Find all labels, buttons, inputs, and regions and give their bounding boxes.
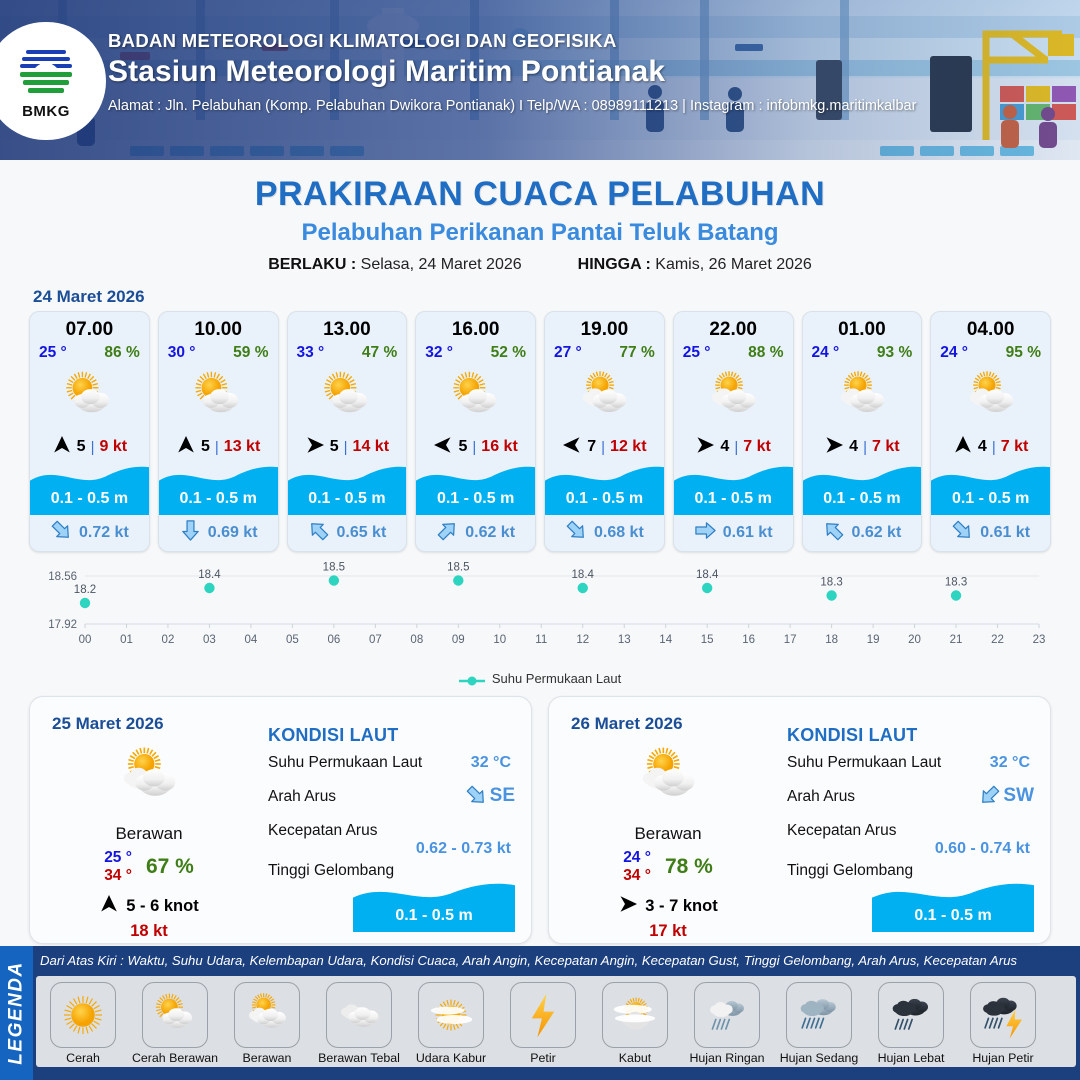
svg-text:22: 22 (991, 634, 1004, 646)
card-time: 16.00 (416, 312, 535, 341)
bmkg-logo-text: BMKG (22, 103, 70, 120)
card-humidity: 88 % (748, 344, 783, 362)
daily-date: 25 Maret 2026 (52, 714, 164, 734)
wave-height-label: Tinggi Gelombang (787, 862, 913, 879)
card-wave-height: 0.1 - 0.5 m (288, 490, 407, 508)
card-time: 13.00 (288, 312, 407, 341)
card-wind-row: 5 | 14 kt (288, 432, 407, 462)
legend-kabut-icon (602, 982, 668, 1048)
daily-sea-block: KONDISI LAUT Suhu Permukaan Laut 32 °C A… (268, 725, 517, 888)
wind-direction-arrow-icon (824, 435, 844, 460)
sst-line: Suhu Permukaan Laut 32 °C (787, 754, 1036, 780)
validity-row: BERLAKU : Selasa, 24 Maret 2026 HINGGA :… (0, 256, 1080, 274)
card-temperature: 32 ° (425, 344, 453, 362)
svg-text:18.4: 18.4 (572, 569, 595, 581)
card-weather-cerah-berawan-icon (159, 364, 278, 430)
card-wind-speed: 5 (77, 438, 86, 456)
daily-condition: Berawan (559, 824, 777, 844)
card-wind-row: 4 | 7 kt (674, 432, 793, 462)
svg-text:01: 01 (120, 634, 133, 646)
card-temp-hum: 24 ° 95 % (931, 341, 1050, 362)
card-wave-height: 0.1 - 0.5 m (931, 490, 1050, 508)
legend-item: Cerah Berawan (132, 982, 218, 1065)
card-weather-berawan-icon (545, 364, 664, 430)
svg-text:20: 20 (908, 634, 921, 646)
card-gust: 13 kt (224, 438, 260, 456)
legend-item: Cerah (40, 982, 126, 1065)
card-temp-hum: 24 ° 93 % (803, 341, 922, 362)
card-wind-separator: | (601, 439, 605, 456)
current-direction-value: SW (1003, 785, 1034, 807)
wind-direction-arrow-icon (305, 435, 325, 460)
card-wind-separator: | (344, 439, 348, 456)
daily-gust: 17 kt (559, 922, 777, 941)
hourly-card: 19.00 27 ° 77 % 7 | 12 kt 0.1 - 0.5 m 0.… (544, 311, 665, 552)
wave-height-line: Tinggi Gelombang 0.1 - 0.5 m (268, 862, 517, 888)
card-time: 22.00 (674, 312, 793, 341)
card-wind-speed: 7 (587, 438, 596, 456)
card-wind-separator: | (215, 439, 219, 456)
daily-left-block: Berawan 25 ° 34 ° 67 % 5 - 6 knot 18 kt (40, 739, 258, 941)
card-humidity: 86 % (104, 344, 139, 362)
legend-item: Hujan Lebat (868, 982, 954, 1065)
card-gust: 12 kt (610, 438, 646, 456)
card-current-speed: 0.62 kt (851, 524, 901, 542)
daily-temp-min: 25 ° (104, 849, 132, 867)
card-temperature: 25 ° (39, 344, 67, 362)
wave-height-box: 0.1 - 0.5 m (353, 880, 515, 932)
card-weather-cerah-berawan-icon (416, 364, 535, 430)
card-current-row: 0.62 kt (803, 515, 922, 551)
card-wind-row: 7 | 12 kt (545, 432, 664, 462)
current-direction-label: Arah Arus (268, 788, 336, 805)
card-temp-hum: 25 ° 86 % (30, 341, 149, 362)
daily-wind-row: 5 - 6 knot (40, 894, 258, 919)
legend-berawan-icon (234, 982, 300, 1048)
card-wave-height: 0.1 - 0.5 m (159, 490, 278, 508)
wind-direction-arrow-icon (562, 435, 582, 460)
card-humidity: 52 % (491, 344, 526, 362)
svg-text:21: 21 (950, 634, 963, 646)
card-wave-height: 0.1 - 0.5 m (30, 490, 149, 508)
svg-text:18.56: 18.56 (48, 571, 77, 583)
legend-side-text: LEGENDA (6, 961, 28, 1064)
legend-item-label: Cerah (66, 1051, 100, 1065)
svg-text:04: 04 (245, 634, 258, 646)
legend-items: CerahCerah BerawanBerawanBerawan TebalUd… (36, 976, 1076, 1067)
card-wind-speed: 5 (458, 438, 467, 456)
hourly-card: 22.00 25 ° 88 % 4 | 7 kt 0.1 - 0.5 m 0.6… (673, 311, 794, 552)
daily-humidity: 78 % (665, 855, 713, 879)
card-humidity: 95 % (1006, 344, 1041, 362)
card-temp-hum: 32 ° 52 % (416, 341, 535, 362)
svg-text:18.4: 18.4 (198, 569, 221, 581)
card-wind-separator: | (734, 439, 738, 456)
svg-text:05: 05 (286, 634, 299, 646)
svg-text:08: 08 (410, 634, 423, 646)
daily-temp-max: 34 ° (623, 867, 651, 885)
svg-text:17.92: 17.92 (48, 619, 77, 631)
daily-condition: Berawan (40, 824, 258, 844)
card-wind-speed: 5 (330, 438, 339, 456)
daily-left-block: Berawan 24 ° 34 ° 78 % 3 - 7 knot 17 kt (559, 739, 777, 941)
card-temperature: 33 ° (297, 344, 325, 362)
legend-cerah-berawan-icon (142, 982, 208, 1048)
card-temp-hum: 33 ° 47 % (288, 341, 407, 362)
legend-item-label: Petir (530, 1051, 555, 1065)
hourly-card: 13.00 33 ° 47 % 5 | 14 kt 0.1 - 0.5 m 0.… (287, 311, 408, 552)
current-direction-arrow-icon (694, 519, 717, 547)
chart-legend-label: Suhu Permukaan Laut (492, 671, 621, 686)
card-wave-block: 0.1 - 0.5 m (803, 463, 922, 515)
legend-item-label: Hujan Sedang (780, 1051, 859, 1065)
valid-from: BERLAKU : Selasa, 24 Maret 2026 (268, 256, 521, 274)
daily-panel: 26 Maret 2026 Berawan 24 ° 34 ° 78 % 3 -… (548, 696, 1051, 944)
current-direction-line: Arah Arus SW (787, 788, 1036, 814)
valid-from-label: BERLAKU : (268, 256, 356, 273)
legend-note: Dari Atas Kiri : Waktu, Suhu Udara, Kele… (40, 953, 1017, 968)
daily-humidity: 67 % (146, 855, 194, 879)
daily-gust: 18 kt (40, 922, 258, 941)
svg-text:14: 14 (659, 634, 672, 646)
daily-weather-berawan-icon (40, 739, 258, 822)
card-wind-row: 4 | 7 kt (803, 432, 922, 462)
card-current-speed: 0.72 kt (79, 524, 129, 542)
sst-label: Suhu Permukaan Laut (268, 754, 422, 771)
current-direction-arrow-icon (951, 519, 974, 547)
current-speed-label: Kecepatan Arus (787, 822, 896, 839)
page-subtitle: Pelabuhan Perikanan Pantai Teluk Batang (0, 219, 1080, 247)
sea-conditions-title: KONDISI LAUT (787, 725, 1036, 746)
daily-weather-berawan-icon (559, 739, 777, 822)
legend-item-label: Berawan Tebal (318, 1051, 400, 1065)
hourly-forecast-row: 07.00 25 ° 86 % 5 | 9 kt 0.1 - 0.5 m 0.7… (0, 311, 1080, 552)
card-wind-separator: | (91, 439, 95, 456)
card-humidity: 59 % (233, 344, 268, 362)
card-wind-row: 5 | 16 kt (416, 432, 535, 462)
bmkg-logo-icon (16, 42, 76, 102)
legend-item: Berawan (224, 982, 310, 1065)
card-current-row: 0.61 kt (931, 515, 1050, 551)
legend-berawan-tebal-icon (326, 982, 392, 1048)
card-wind-speed: 4 (978, 438, 987, 456)
card-time: 01.00 (803, 312, 922, 341)
wave-height-line: Tinggi Gelombang 0.1 - 0.5 m (787, 862, 1036, 888)
card-temperature: 24 ° (812, 344, 840, 362)
header-station-name: Stasiun Meteorologi Maritim Pontianak (108, 55, 916, 89)
legend-item: Hujan Petir (960, 982, 1046, 1065)
legend-item-label: Cerah Berawan (132, 1051, 218, 1065)
card-time: 10.00 (159, 312, 278, 341)
current-direction-value: SE (490, 785, 515, 807)
svg-text:16: 16 (742, 634, 755, 646)
card-current-speed: 0.69 kt (208, 524, 258, 542)
svg-text:18.5: 18.5 (323, 562, 345, 574)
legend-petir-icon (510, 982, 576, 1048)
legend-hujan-petir-icon (970, 982, 1036, 1048)
sst-value: 32 °C (990, 754, 1030, 772)
header-address: Alamat : Jln. Pelabuhan (Komp. Pelabuhan… (108, 98, 916, 114)
current-direction-arrow-icon (565, 519, 588, 547)
daily-wind-speed: 3 - 7 knot (645, 897, 717, 916)
valid-until-label: HINGGA : (578, 256, 651, 273)
card-temp-hum: 27 ° 77 % (545, 341, 664, 362)
current-direction-arrow-icon (822, 519, 845, 547)
card-temp-hum: 25 ° 88 % (674, 341, 793, 362)
daily-temp-min: 24 ° (623, 849, 651, 867)
sst-chart: 18.5617.92000102030405060708091011121314… (29, 562, 1051, 667)
card-weather-berawan-icon (803, 364, 922, 430)
page-title: PRAKIRAAN CUACA PELABUHAN (0, 175, 1080, 214)
card-current-row: 0.69 kt (159, 515, 278, 551)
svg-text:18: 18 (825, 634, 838, 646)
wind-direction-arrow-icon (618, 894, 638, 919)
card-wave-height: 0.1 - 0.5 m (416, 490, 535, 508)
daily-temp-hum: 24 ° 34 ° 78 % (559, 849, 777, 885)
current-speed-value: 0.60 - 0.74 kt (935, 840, 1030, 858)
current-direction-value-wrap: SE (465, 784, 515, 807)
svg-text:12: 12 (576, 634, 589, 646)
svg-text:18.5: 18.5 (447, 562, 469, 574)
legend-item-label: Berawan (243, 1051, 292, 1065)
card-temperature: 25 ° (683, 344, 711, 362)
current-direction-arrow-icon (179, 519, 202, 547)
card-humidity: 47 % (362, 344, 397, 362)
svg-text:15: 15 (701, 634, 714, 646)
valid-until-value: Kamis, 26 Maret 2026 (655, 256, 812, 273)
sst-line: Suhu Permukaan Laut 32 °C (268, 754, 517, 780)
card-wave-block: 0.1 - 0.5 m (931, 463, 1050, 515)
card-wave-block: 0.1 - 0.5 m (30, 463, 149, 515)
wind-direction-arrow-icon (176, 435, 196, 460)
card-wave-height: 0.1 - 0.5 m (803, 490, 922, 508)
svg-text:23: 23 (1033, 634, 1046, 646)
daily-sea-block: KONDISI LAUT Suhu Permukaan Laut 32 °C A… (787, 725, 1036, 888)
card-wave-block: 0.1 - 0.5 m (159, 463, 278, 515)
current-direction-label: Arah Arus (787, 788, 855, 805)
legend-hujan-ringan-icon (694, 982, 760, 1048)
chart-legend-marker (459, 674, 485, 684)
legend-side-label: LEGENDA (0, 946, 33, 1080)
card-wind-separator: | (472, 439, 476, 456)
sst-label: Suhu Permukaan Laut (787, 754, 941, 771)
wave-height-value: 0.1 - 0.5 m (872, 907, 1034, 925)
card-wave-block: 0.1 - 0.5 m (416, 463, 535, 515)
card-gust: 7 kt (872, 438, 900, 456)
card-current-row: 0.72 kt (30, 515, 149, 551)
svg-text:19: 19 (867, 634, 880, 646)
hourly-card: 01.00 24 ° 93 % 4 | 7 kt 0.1 - 0.5 m 0.6… (802, 311, 923, 552)
header-text-block: BADAN METEOROLOGI KLIMATOLOGI DAN GEOFIS… (108, 30, 916, 114)
legend-item: Hujan Sedang (776, 982, 862, 1065)
svg-text:00: 00 (79, 634, 92, 646)
page-header: BMKG BADAN METEOROLOGI KLIMATOLOGI DAN G… (0, 0, 1080, 160)
card-wave-height: 0.1 - 0.5 m (545, 490, 664, 508)
card-wave-block: 0.1 - 0.5 m (288, 463, 407, 515)
svg-text:06: 06 (327, 634, 340, 646)
current-direction-arrow-icon (307, 519, 330, 547)
header-org-name: BADAN METEOROLOGI KLIMATOLOGI DAN GEOFIS… (108, 30, 916, 52)
svg-text:11: 11 (535, 634, 547, 646)
legend-item-label: Udara Kabur (416, 1051, 486, 1065)
legend-item-label: Hujan Petir (972, 1051, 1033, 1065)
card-wind-speed: 5 (201, 438, 210, 456)
svg-text:17: 17 (784, 634, 797, 646)
legend-item-label: Kabut (619, 1051, 651, 1065)
sea-conditions-title: KONDISI LAUT (268, 725, 517, 746)
card-temp-hum: 30 ° 59 % (159, 341, 278, 362)
svg-text:02: 02 (162, 634, 175, 646)
legend-item: Berawan Tebal (316, 982, 402, 1065)
svg-text:18.3: 18.3 (945, 577, 967, 589)
card-temperature: 27 ° (554, 344, 582, 362)
card-temperature: 24 ° (940, 344, 968, 362)
card-current-speed: 0.68 kt (594, 524, 644, 542)
daily-forecast-panels: 25 Maret 2026 Berawan 25 ° 34 ° 67 % 5 -… (0, 686, 1080, 944)
legend-udara-kabur-icon (418, 982, 484, 1048)
wind-direction-arrow-icon (52, 435, 72, 460)
hourly-card: 16.00 32 ° 52 % 5 | 16 kt 0.1 - 0.5 m 0.… (415, 311, 536, 552)
card-wave-height: 0.1 - 0.5 m (674, 490, 793, 508)
svg-text:18.3: 18.3 (820, 577, 842, 589)
svg-text:18.2: 18.2 (74, 584, 96, 596)
svg-text:07: 07 (369, 634, 382, 646)
daily-temps: 24 ° 34 ° (623, 849, 651, 885)
wind-direction-arrow-icon (433, 435, 453, 460)
valid-from-value: Selasa, 24 Maret 2026 (361, 256, 522, 273)
card-humidity: 77 % (619, 344, 654, 362)
legend-item: Kabut (592, 982, 678, 1065)
hourly-card: 10.00 30 ° 59 % 5 | 13 kt 0.1 - 0.5 m 0.… (158, 311, 279, 552)
daily-temps: 25 ° 34 ° (104, 849, 132, 885)
legend-item-label: Hujan Lebat (878, 1051, 945, 1065)
daily-panel: 25 Maret 2026 Berawan 25 ° 34 ° 67 % 5 -… (29, 696, 532, 944)
hourly-date-label: 24 Maret 2026 (33, 287, 1080, 307)
card-current-row: 0.61 kt (674, 515, 793, 551)
card-wind-separator: | (992, 439, 996, 456)
card-wind-speed: 4 (849, 438, 858, 456)
card-wave-block: 0.1 - 0.5 m (545, 463, 664, 515)
card-gust: 16 kt (481, 438, 517, 456)
legend-item: Petir (500, 982, 586, 1065)
card-gust: 7 kt (743, 438, 771, 456)
card-temperature: 30 ° (168, 344, 196, 362)
card-time: 19.00 (545, 312, 664, 341)
card-wind-row: 5 | 13 kt (159, 432, 278, 462)
svg-text:03: 03 (203, 634, 216, 646)
card-current-row: 0.62 kt (416, 515, 535, 551)
daily-date: 26 Maret 2026 (571, 714, 683, 734)
legend-bar: LEGENDA Dari Atas Kiri : Waktu, Suhu Uda… (0, 946, 1080, 1080)
card-gust: 7 kt (1001, 438, 1029, 456)
daily-temp-max: 34 ° (104, 867, 132, 885)
card-weather-cerah-berawan-icon (288, 364, 407, 430)
daily-wind-speed: 5 - 6 knot (126, 897, 198, 916)
legend-hujan-lebat-icon (878, 982, 944, 1048)
wind-direction-arrow-icon (953, 435, 973, 460)
current-direction-arrow-icon (50, 519, 73, 547)
wind-direction-arrow-icon (695, 435, 715, 460)
current-speed-value: 0.62 - 0.73 kt (416, 840, 511, 858)
card-current-speed: 0.61 kt (723, 524, 773, 542)
legend-hujan-sedang-icon (786, 982, 852, 1048)
card-wind-row: 4 | 7 kt (931, 432, 1050, 462)
legend-item-label: Hujan Ringan (689, 1051, 764, 1065)
current-direction-line: Arah Arus SE (268, 788, 517, 814)
legend-item: Udara Kabur (408, 982, 494, 1065)
card-current-speed: 0.61 kt (980, 524, 1030, 542)
svg-text:13: 13 (618, 634, 631, 646)
card-weather-cerah-berawan-icon (30, 364, 149, 430)
current-speed-line: Kecepatan Arus 0.62 - 0.73 kt (268, 822, 517, 848)
card-wind-separator: | (863, 439, 867, 456)
sst-value: 32 °C (471, 754, 511, 772)
current-speed-label: Kecepatan Arus (268, 822, 377, 839)
card-current-row: 0.65 kt (288, 515, 407, 551)
card-current-speed: 0.62 kt (465, 524, 515, 542)
chart-legend: Suhu Permukaan Laut (0, 671, 1080, 686)
legend-item: Hujan Ringan (684, 982, 770, 1065)
svg-text:10: 10 (493, 634, 506, 646)
hourly-card: 07.00 25 ° 86 % 5 | 9 kt 0.1 - 0.5 m 0.7… (29, 311, 150, 552)
wave-height-value: 0.1 - 0.5 m (353, 907, 515, 925)
card-humidity: 93 % (877, 344, 912, 362)
card-time: 07.00 (30, 312, 149, 341)
card-current-row: 0.68 kt (545, 515, 664, 551)
card-wind-row: 5 | 9 kt (30, 432, 149, 462)
card-time: 04.00 (931, 312, 1050, 341)
card-wind-speed: 4 (720, 438, 729, 456)
svg-text:18.4: 18.4 (696, 569, 719, 581)
card-gust: 14 kt (353, 438, 389, 456)
valid-until: HINGGA : Kamis, 26 Maret 2026 (578, 256, 812, 274)
card-wave-block: 0.1 - 0.5 m (674, 463, 793, 515)
daily-temp-hum: 25 ° 34 ° 67 % (40, 849, 258, 885)
current-direction-value-wrap: SW (978, 784, 1034, 807)
hourly-card: 04.00 24 ° 95 % 4 | 7 kt 0.1 - 0.5 m 0.6… (930, 311, 1051, 552)
card-gust: 9 kt (99, 438, 127, 456)
wave-height-box: 0.1 - 0.5 m (872, 880, 1034, 932)
wave-height-label: Tinggi Gelombang (268, 862, 394, 879)
current-direction-arrow-icon (436, 519, 459, 547)
legend-cerah-icon (50, 982, 116, 1048)
daily-wind-row: 3 - 7 knot (559, 894, 777, 919)
svg-text:09: 09 (452, 634, 465, 646)
current-speed-line: Kecepatan Arus 0.60 - 0.74 kt (787, 822, 1036, 848)
card-weather-berawan-icon (674, 364, 793, 430)
wind-direction-arrow-icon (99, 894, 119, 919)
card-current-speed: 0.65 kt (336, 524, 386, 542)
card-weather-berawan-icon (931, 364, 1050, 430)
